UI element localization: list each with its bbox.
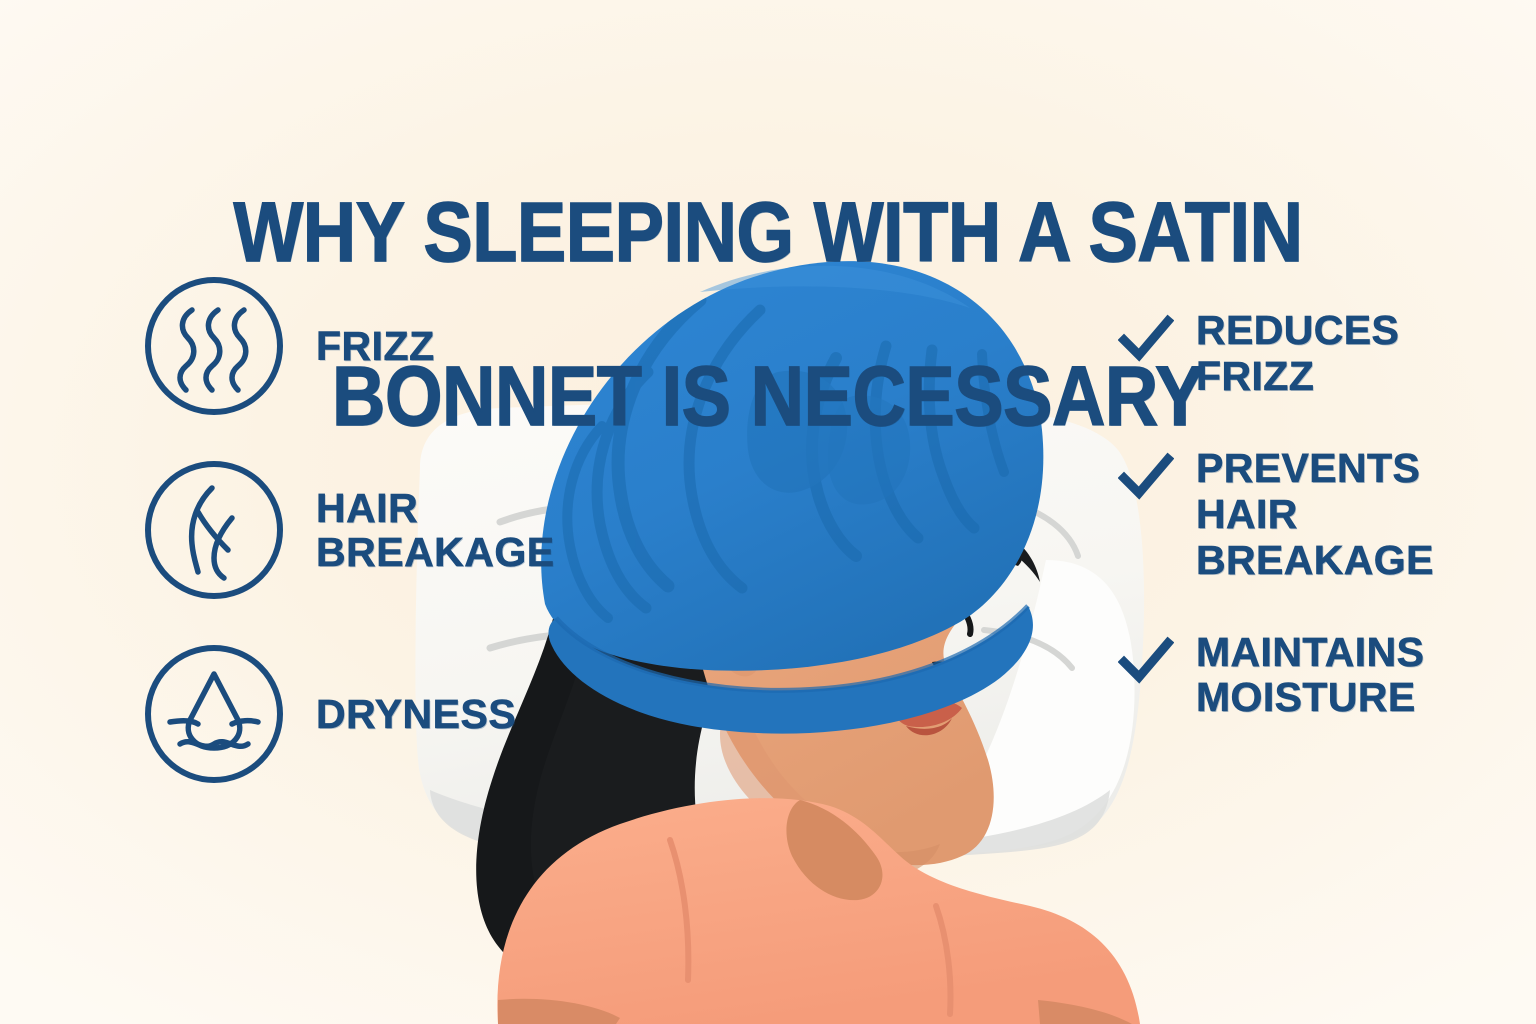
problem-item-dryness: DRYNESS bbox=[140, 640, 610, 788]
check-icon bbox=[1118, 636, 1174, 686]
problem-label: DRYNESS bbox=[316, 692, 516, 736]
dryness-droplet-icon bbox=[140, 640, 288, 788]
infographic-canvas: WHY SLEEPING WITH A SATIN BONNET IS NECE… bbox=[0, 0, 1536, 1024]
benefit-label: MAINTAINS MOISTURE bbox=[1196, 630, 1424, 722]
page-title: WHY SLEEPING WITH A SATIN BONNET IS NECE… bbox=[138, 108, 1398, 520]
title-line-2: BONNET IS NECESSARY bbox=[214, 355, 1323, 437]
title-line-1: WHY SLEEPING WITH A SATIN bbox=[214, 191, 1323, 273]
benefit-item-maintains-moisture: MAINTAINS MOISTURE bbox=[1118, 630, 1518, 722]
